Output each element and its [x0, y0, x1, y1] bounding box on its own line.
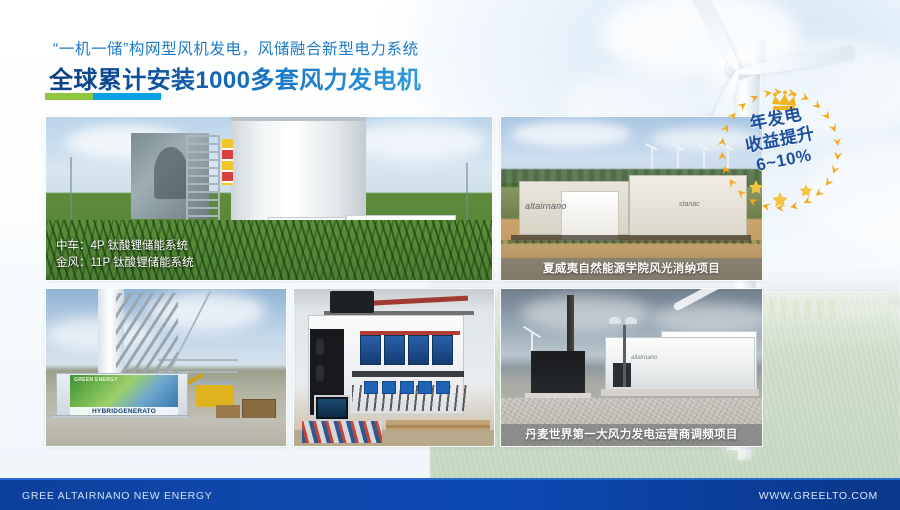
brand-label-altairnano: altairnano	[525, 201, 567, 211]
page-title: 全球累计安装1000多套风力发电机	[49, 60, 421, 95]
title-underline	[45, 93, 161, 100]
slide-canvas: “一机一储”构网型风机发电，风储融合新型电力系统 全球累计安装1000多套风力发…	[0, 0, 900, 510]
footer-company-name: GREE ALTAIRNANO NEW ENERGY	[22, 480, 213, 510]
star-decoration-icon	[749, 180, 813, 207]
gallery-item-cornfield[interactable]: 中车：4P 钛酸锂储能系统 金风：11P 钛酸锂储能系统	[46, 117, 492, 280]
banner-label: GREEN ENERGY	[74, 377, 118, 383]
gallery-item-hybrid-generator[interactable]: GREEN ENERGY HYBRIDGENERATO	[46, 289, 286, 446]
underline-segment-blue	[93, 93, 161, 100]
photo-caption: 丹麦世界第一大风力发电运营商调频项目	[501, 424, 762, 446]
brand-label-secondary: stanac	[679, 201, 700, 208]
caption-line-1: 中车：4P 钛酸锂储能系统	[56, 238, 194, 255]
highlight-badge: 年发电 收益提升 6~10%	[716, 88, 844, 212]
photo-inverter-cabinet	[294, 289, 494, 446]
gallery-item-inverter-cabinet[interactable]	[294, 289, 494, 446]
photo-gallery: 中车：4P 钛酸锂储能系统 金风：11P 钛酸锂储能系统 altairnano …	[46, 117, 762, 446]
brand-label-altairnano: altairnano	[631, 355, 657, 361]
gallery-item-denmark[interactable]: altairnano 丹麦世界第一大风力发电运营商调频项目	[501, 289, 762, 446]
footer-bar: GREE ALTAIRNANO NEW ENERGY WWW.GREELTO.C…	[0, 478, 900, 510]
underline-segment-green	[45, 93, 93, 100]
photo-caption: 夏威夷自然能源学院风光消纳项目	[501, 258, 762, 280]
caption-line-2: 金风：11P 钛酸锂储能系统	[56, 255, 194, 272]
footer-website[interactable]: WWW.GREELTO.COM	[759, 480, 878, 510]
photo-hybrid-generator: GREEN ENERGY HYBRIDGENERATO	[46, 289, 286, 446]
warning-sign-icon	[222, 139, 233, 185]
photo-caption: 中车：4P 钛酸锂储能系统 金风：11P 钛酸锂储能系统	[56, 238, 194, 272]
photo-denmark-site: altairnano	[501, 289, 762, 446]
slide-subtitle: “一机一储”构网型风机发电，风储融合新型电力系统	[53, 37, 419, 59]
